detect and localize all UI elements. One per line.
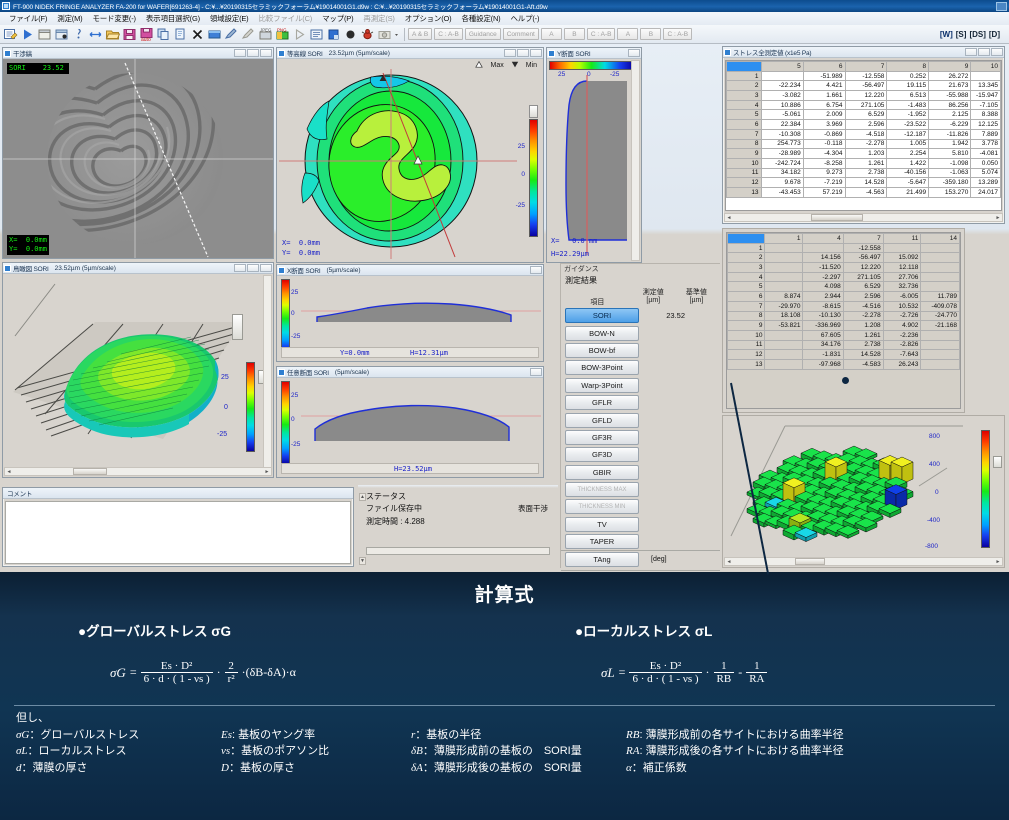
- table-row-header[interactable]: 6: [728, 292, 765, 302]
- table-cell[interactable]: 22.384: [761, 120, 803, 130]
- table-cell[interactable]: [921, 340, 960, 350]
- table-cell[interactable]: -5.647: [887, 178, 929, 188]
- table-cell[interactable]: -10.308: [761, 129, 803, 139]
- table-cell[interactable]: 3.778: [971, 139, 1001, 149]
- table-cell[interactable]: -55.988: [929, 91, 971, 101]
- table-cell[interactable]: [765, 272, 803, 282]
- toolbar-btn-comment[interactable]: Comment: [503, 28, 539, 40]
- delete-x-icon[interactable]: [190, 27, 205, 42]
- table-col-header[interactable]: 7: [843, 234, 883, 244]
- table-cell[interactable]: 2.125: [929, 110, 971, 120]
- guidance-item-gflr[interactable]: GFLR: [565, 395, 639, 410]
- table-row-header[interactable]: 10: [727, 158, 762, 168]
- guidance-item-gbir[interactable]: GBIR: [565, 465, 639, 480]
- table-cell[interactable]: [765, 340, 803, 350]
- table-row[interactable]: 13-97.968-4.58326.243: [728, 359, 960, 369]
- panel-stress-table-close[interactable]: [991, 48, 1003, 56]
- table-cell[interactable]: 34.176: [803, 340, 843, 350]
- table-cell[interactable]: [921, 350, 960, 360]
- mode-button-d[interactable]: [D]: [989, 30, 1000, 39]
- bird-view-vscrollbar[interactable]: [263, 275, 272, 476]
- png-export-icon[interactable]: PNG: [275, 27, 290, 42]
- table-cell[interactable]: -28.989: [761, 149, 803, 159]
- table-cell[interactable]: -336.969: [803, 321, 843, 331]
- y-section-vscrollbar[interactable]: [631, 60, 640, 261]
- table-cell[interactable]: 271.105: [843, 272, 883, 282]
- table-corner-header[interactable]: [728, 234, 765, 244]
- table-cell[interactable]: -1.831: [803, 350, 843, 360]
- table-cell[interactable]: -7.105: [971, 100, 1001, 110]
- guidance-item-sori[interactable]: SORI: [565, 308, 639, 323]
- table-cell[interactable]: -1.952: [887, 110, 929, 120]
- bird-view-plot[interactable]: 250-25: [3, 274, 255, 464]
- menu-item-measure[interactable]: 測定(M): [52, 13, 87, 24]
- table-row[interactable]: 9-28.989-4.3041.2032.2545.810-4.081: [727, 149, 1001, 159]
- table-row[interactable]: 8254.773-0.118-2.2781.0051.9423.778: [727, 139, 1001, 149]
- table-cell[interactable]: -6.229: [929, 120, 971, 130]
- table-row-header[interactable]: 3: [727, 91, 762, 101]
- table-cell[interactable]: 1.661: [803, 91, 845, 101]
- table-cell[interactable]: -242.724: [761, 158, 803, 168]
- table-cell[interactable]: -1.063: [929, 168, 971, 178]
- table-cell[interactable]: [921, 282, 960, 292]
- y-section-profile[interactable]: [549, 75, 633, 255]
- table-cell[interactable]: -2.726: [883, 311, 921, 321]
- table-cell[interactable]: -8.258: [803, 158, 845, 168]
- table-row[interactable]: 410.8866.754271.105-1.48386.256-7.105: [727, 100, 1001, 110]
- table-cell[interactable]: -51.989: [803, 71, 845, 81]
- table-cell[interactable]: 21.499: [887, 187, 929, 197]
- circle-icon[interactable]: [343, 27, 358, 42]
- table-cell[interactable]: 12.220: [845, 91, 887, 101]
- table-cell[interactable]: -11.520: [803, 263, 843, 273]
- table-row-header[interactable]: 2: [727, 81, 762, 91]
- table-cell[interactable]: 14.156: [803, 253, 843, 263]
- table-cell[interactable]: -12.558: [845, 71, 887, 81]
- stress-table-hscrollbar[interactable]: ◄ ►: [724, 213, 1003, 222]
- table-cell[interactable]: [971, 71, 1001, 81]
- table-row[interactable]: 1067.6051.261-2.236: [728, 330, 960, 340]
- panel-contour-maximize[interactable]: [517, 49, 529, 57]
- table-cell[interactable]: 1.422: [887, 158, 929, 168]
- table-cell[interactable]: 14.528: [843, 350, 883, 360]
- camera-icon[interactable]: [377, 27, 392, 42]
- menu-item-map[interactable]: マップ(P): [317, 13, 358, 24]
- mode-button-w[interactable]: [W]: [940, 30, 953, 39]
- menu-item-region[interactable]: 領域設定(E): [205, 13, 254, 24]
- table-col-header[interactable]: 8: [887, 62, 929, 72]
- play-gray-icon[interactable]: [292, 27, 307, 42]
- contour-cbar-scroll-up[interactable]: [529, 105, 538, 118]
- bird-view-hscroll-thumb[interactable]: [73, 468, 107, 475]
- table-cell[interactable]: -5.061: [761, 110, 803, 120]
- panel-stress-table-minimize[interactable]: [965, 48, 977, 56]
- play-icon[interactable]: [20, 27, 35, 42]
- table-cell[interactable]: 4.902: [883, 321, 921, 331]
- menu-item-help[interactable]: ヘルプ(-): [505, 13, 544, 24]
- table-col-header[interactable]: 5: [761, 62, 803, 72]
- table-row[interactable]: 129.678-7.21914.528-5.647-359.18013.289: [727, 178, 1001, 188]
- table-cell[interactable]: 9.273: [803, 168, 845, 178]
- table-cell[interactable]: 57.219: [803, 187, 845, 197]
- toolbar-dropdown-arrow-icon[interactable]: [394, 27, 399, 42]
- table-cell[interactable]: 254.773: [761, 139, 803, 149]
- table-cell[interactable]: -1.098: [929, 158, 971, 168]
- table-cell[interactable]: 3.969: [803, 120, 845, 130]
- save-icon[interactable]: [122, 27, 137, 42]
- x-section-profile[interactable]: [301, 279, 541, 345]
- panel-contour-minimize[interactable]: [504, 49, 516, 57]
- table-cell[interactable]: 6.529: [845, 110, 887, 120]
- panel-stress-table-maximize[interactable]: [978, 48, 990, 56]
- table-cell[interactable]: 10.886: [761, 100, 803, 110]
- table-cell[interactable]: -7.219: [803, 178, 845, 188]
- table-row-header[interactable]: 12: [728, 350, 765, 360]
- table-cell[interactable]: -4.583: [843, 359, 883, 369]
- table-cell[interactable]: 0.252: [887, 71, 929, 81]
- table-row[interactable]: 68.8742.9442.596-6.00511.789: [728, 292, 960, 302]
- panel-bird-view-close[interactable]: [260, 264, 272, 272]
- bird-view-hscrollbar[interactable]: ◄ ►: [4, 467, 272, 476]
- table-cell[interactable]: [803, 243, 843, 253]
- table-cell[interactable]: 2.596: [845, 120, 887, 130]
- brush-off-icon[interactable]: [241, 27, 256, 42]
- table-row-header[interactable]: 7: [727, 129, 762, 139]
- table-row-header[interactable]: 2: [728, 253, 765, 263]
- table-row[interactable]: 622.3843.9692.596-23.522-6.22912.125: [727, 120, 1001, 130]
- panel-icon[interactable]: [207, 27, 222, 42]
- table-cell[interactable]: 1.005: [887, 139, 929, 149]
- table-cell[interactable]: 5.810: [929, 149, 971, 159]
- minimize-button[interactable]: [996, 2, 1007, 11]
- table-row[interactable]: 1-12.558: [728, 243, 960, 253]
- table-cell[interactable]: 26.243: [883, 359, 921, 369]
- table-row-header[interactable]: 4: [728, 272, 765, 282]
- table-cell[interactable]: -22.234: [761, 81, 803, 91]
- table-cell[interactable]: -4.516: [843, 301, 883, 311]
- table-cell[interactable]: -409.078: [921, 301, 960, 311]
- table-cell[interactable]: -4.563: [845, 187, 887, 197]
- toolbar-btn-a-1[interactable]: A: [541, 28, 562, 40]
- table-cell[interactable]: 153.270: [929, 187, 971, 197]
- panel-fringe-close[interactable]: [260, 49, 272, 57]
- table-cell[interactable]: -10.130: [803, 311, 843, 321]
- guidance-item-gfld[interactable]: GFLD: [565, 413, 639, 428]
- table-row[interactable]: 54.0986.52932.736: [728, 282, 960, 292]
- contour-plot[interactable]: [279, 69, 517, 259]
- table-cell[interactable]: -12.187: [887, 129, 929, 139]
- table-cell[interactable]: 2.738: [845, 168, 887, 178]
- menu-item-mode[interactable]: モード変更(-): [87, 13, 140, 24]
- table-row-header[interactable]: 11: [728, 340, 765, 350]
- table-cell[interactable]: 11.789: [921, 292, 960, 302]
- table-row[interactable]: 818.108-10.130-2.278-2.726-24.770: [728, 311, 960, 321]
- paste-icon[interactable]: [173, 27, 188, 42]
- table-cell[interactable]: 2.596: [843, 292, 883, 302]
- save-disk-icon[interactable]: [54, 27, 69, 42]
- toolbar-btn-a-and-b[interactable]: A & B: [408, 28, 432, 40]
- table-row-header[interactable]: 8: [728, 311, 765, 321]
- table-cell[interactable]: -6.005: [883, 292, 921, 302]
- bird-view-rotate-control[interactable]: [232, 314, 243, 340]
- table-cell[interactable]: 271.105: [845, 100, 887, 110]
- table-row-header[interactable]: 13: [727, 187, 762, 197]
- table-cell[interactable]: 34.182: [761, 168, 803, 178]
- table-row[interactable]: 3-3.0821.66112.2206.513-55.988-15.947: [727, 91, 1001, 101]
- table-row[interactable]: 1-51.989-12.5580.25226.272: [727, 71, 1001, 81]
- guidance-item-bow-3point[interactable]: BOW-3Point: [565, 360, 639, 375]
- menu-item-options[interactable]: オプション(O): [400, 13, 457, 24]
- table-cell[interactable]: 26.272: [929, 71, 971, 81]
- table-cell[interactable]: 24.017: [971, 187, 1001, 197]
- table-cell[interactable]: 6.754: [803, 100, 845, 110]
- table-cell[interactable]: -2.278: [843, 311, 883, 321]
- table-row-header[interactable]: 10: [728, 330, 765, 340]
- table-cell[interactable]: [765, 330, 803, 340]
- list-icon[interactable]: [309, 27, 324, 42]
- panel-contour-close[interactable]: [530, 49, 542, 57]
- table-cell[interactable]: 9.678: [761, 178, 803, 188]
- table-cell[interactable]: 19.115: [887, 81, 929, 91]
- panel-arbitrary-section-close[interactable]: [530, 368, 542, 376]
- guidance-item-gf3r[interactable]: GF3R: [565, 430, 639, 445]
- table-cell[interactable]: -56.497: [843, 253, 883, 263]
- toolbar-btn-c-1[interactable]: C : A-B: [587, 28, 616, 40]
- panel-fringe-minimize[interactable]: [234, 49, 246, 57]
- table-cell[interactable]: 8.388: [971, 110, 1001, 120]
- arrows-horizontal-icon[interactable]: [88, 27, 103, 42]
- table-cell[interactable]: -8.615: [803, 301, 843, 311]
- table-cell[interactable]: 8.874: [765, 292, 803, 302]
- guidance-item-tang[interactable]: TAng: [565, 552, 639, 567]
- table-cell[interactable]: -24.770: [921, 311, 960, 321]
- table-cell[interactable]: [921, 263, 960, 273]
- table-cell[interactable]: -11.826: [929, 129, 971, 139]
- table-cell[interactable]: [765, 253, 803, 263]
- table-row-header[interactable]: 9: [728, 321, 765, 331]
- table-row-header[interactable]: 13: [728, 359, 765, 369]
- guidance-item-taper[interactable]: TAPER: [565, 534, 639, 549]
- table-row-header[interactable]: 6: [727, 120, 762, 130]
- table-row[interactable]: 7-10.308-0.869-4.518-12.187-11.8267.889: [727, 129, 1001, 139]
- table-cell[interactable]: 1.203: [845, 149, 887, 159]
- table-cell[interactable]: -97.968: [803, 359, 843, 369]
- table-cell[interactable]: 12.118: [883, 263, 921, 273]
- table-col-header[interactable]: 7: [845, 62, 887, 72]
- stress-hscroll-thumb[interactable]: [811, 214, 863, 221]
- table-cell[interactable]: 0.050: [971, 158, 1001, 168]
- table-cell[interactable]: 12.125: [971, 120, 1001, 130]
- table-cell[interactable]: 1.261: [845, 158, 887, 168]
- table-cell[interactable]: 15.092: [883, 253, 921, 263]
- comment-input[interactable]: [5, 501, 351, 564]
- guidance-item-tv[interactable]: TV: [565, 517, 639, 532]
- bird-view-hscroll-left[interactable]: ◄: [5, 469, 13, 475]
- table-cell[interactable]: -40.156: [887, 168, 929, 178]
- menu-item-settings[interactable]: 各種設定(N): [456, 13, 505, 24]
- table-cell[interactable]: -2.278: [845, 139, 887, 149]
- table-row-header[interactable]: 4: [727, 100, 762, 110]
- table-cell[interactable]: 21.673: [929, 81, 971, 91]
- table-cell[interactable]: 27.706: [883, 272, 921, 282]
- table-cell[interactable]: 14.528: [845, 178, 887, 188]
- open-folder-icon[interactable]: [105, 27, 120, 42]
- table-cell[interactable]: [765, 350, 803, 360]
- table-cell[interactable]: 1.942: [929, 139, 971, 149]
- table-cell[interactable]: [765, 263, 803, 273]
- guidance-item-warp-3point[interactable]: Warp-3Point: [565, 378, 639, 393]
- table-row-header[interactable]: 5: [728, 282, 765, 292]
- table-cell[interactable]: [765, 243, 803, 253]
- table-col-header[interactable]: 10: [971, 62, 1001, 72]
- table-cell[interactable]: -21.168: [921, 321, 960, 331]
- table-cell[interactable]: -2.236: [883, 330, 921, 340]
- stress-bars-zoom-control[interactable]: [993, 456, 1002, 468]
- table-cell[interactable]: [921, 243, 960, 253]
- blue-square-icon[interactable]: [326, 27, 341, 42]
- table-cell[interactable]: -53.821: [765, 321, 803, 331]
- toolbar-btn-a-2[interactable]: A: [617, 28, 638, 40]
- table-row[interactable]: 9-53.821-336.9691.2084.902-21.168: [728, 321, 960, 331]
- stress-hscroll-right[interactable]: ►: [994, 215, 1002, 221]
- table-col-header[interactable]: 11: [883, 234, 921, 244]
- table-row-header[interactable]: 8: [727, 139, 762, 149]
- stress-bars-hscroll-thumb[interactable]: [795, 558, 825, 565]
- table-cell[interactable]: -359.180: [929, 178, 971, 188]
- menu-item-remeasure[interactable]: 再測定(S): [358, 13, 399, 24]
- table-cell[interactable]: 13.345: [971, 81, 1001, 91]
- table-cell[interactable]: -7.643: [883, 350, 921, 360]
- fringe-image[interactable]: SORI 23.52 X= 0.0mm Y= 0.0mm: [3, 59, 273, 258]
- table-row-header[interactable]: 11: [727, 168, 762, 178]
- table-row[interactable]: 10-242.724-8.2581.2611.422-1.0980.050: [727, 158, 1001, 168]
- table-cell[interactable]: -15.947: [971, 91, 1001, 101]
- stress-hscroll-left[interactable]: ◄: [725, 215, 733, 221]
- guidance-item-bow-bf[interactable]: BOW-bf: [565, 343, 639, 358]
- arbitrary-section-profile[interactable]: [301, 381, 541, 457]
- mode-button-s[interactable]: [S]: [956, 30, 967, 39]
- panel-x-section-close[interactable]: [530, 266, 542, 274]
- table-row[interactable]: 3-11.52012.22012.118: [728, 263, 960, 273]
- table-cell[interactable]: 1.208: [843, 321, 883, 331]
- table-cell[interactable]: 13.289: [971, 178, 1001, 188]
- table-row[interactable]: 4-2.297271.10527.706: [728, 272, 960, 282]
- table-row-header[interactable]: 3: [728, 263, 765, 273]
- table-cell[interactable]: -12.558: [843, 243, 883, 253]
- table-cell[interactable]: 4.421: [803, 81, 845, 91]
- status-scroll-down[interactable]: ▼: [359, 557, 366, 565]
- table-cell[interactable]: 32.736: [883, 282, 921, 292]
- menu-item-file[interactable]: ファイル(F): [4, 13, 52, 24]
- stress-bars-hscroll-right[interactable]: ►: [994, 559, 1002, 565]
- table-row-header[interactable]: 7: [728, 301, 765, 311]
- table-cell[interactable]: 6.529: [843, 282, 883, 292]
- jpeg-export-icon[interactable]: JPEG: [258, 27, 273, 42]
- table-row[interactable]: 7-29.970-8.615-4.51610.532-409.078: [728, 301, 960, 311]
- table-cell[interactable]: 2.009: [803, 110, 845, 120]
- table-cell[interactable]: -43.453: [761, 187, 803, 197]
- bug-icon[interactable]: [360, 27, 375, 42]
- table-col-header[interactable]: 6: [803, 62, 845, 72]
- table-cell[interactable]: 2.944: [803, 292, 843, 302]
- table-cell[interactable]: 2.738: [843, 340, 883, 350]
- stress-bars-hscroll-left[interactable]: ◄: [725, 559, 733, 565]
- measure-probe-icon[interactable]: [71, 27, 86, 42]
- table-cell[interactable]: [921, 359, 960, 369]
- site-table[interactable]: 14711141-12.558214.156-56.49715.0923-11.…: [727, 233, 960, 370]
- table-cell[interactable]: [883, 243, 921, 253]
- toolbar-btn-c-2[interactable]: C : A-B: [663, 28, 692, 40]
- table-cell[interactable]: -4.518: [845, 129, 887, 139]
- table-col-header[interactable]: 1: [765, 234, 803, 244]
- edit-note-icon[interactable]: [3, 27, 18, 42]
- panel-bird-view-minimize[interactable]: [234, 264, 246, 272]
- table-col-header[interactable]: 4: [803, 234, 843, 244]
- table-cell[interactable]: [921, 253, 960, 263]
- table-cell[interactable]: -23.522: [887, 120, 929, 130]
- table-cell[interactable]: -2.297: [803, 272, 843, 282]
- table-cell[interactable]: -0.118: [803, 139, 845, 149]
- toolbar-btn-guidance[interactable]: Guidance: [465, 28, 501, 40]
- table-row[interactable]: 5-5.0612.0096.529-1.9522.1258.388: [727, 110, 1001, 120]
- copy-icon[interactable]: [156, 27, 171, 42]
- panel-y-section-close[interactable]: [628, 49, 640, 57]
- table-corner-header[interactable]: [727, 62, 762, 72]
- table-row[interactable]: 13-43.45357.219-4.56321.499153.27024.017: [727, 187, 1001, 197]
- table-col-header[interactable]: 9: [929, 62, 971, 72]
- table-row[interactable]: 2-22.2344.421-56.49719.11521.67313.345: [727, 81, 1001, 91]
- table-cell[interactable]: -3.082: [761, 91, 803, 101]
- status-scroll-up[interactable]: ▲: [359, 493, 366, 501]
- table-row-header[interactable]: 9: [727, 149, 762, 159]
- guidance-item-bow-n[interactable]: BOW-N: [565, 326, 639, 341]
- save-auto-icon[interactable]: auto: [139, 27, 154, 42]
- table-cell[interactable]: 5.074: [971, 168, 1001, 178]
- table-row[interactable]: 1134.1829.2732.738-40.156-1.0635.074: [727, 168, 1001, 178]
- mode-button-ds[interactable]: [DS]: [969, 30, 985, 39]
- table-cell[interactable]: -4.081: [971, 149, 1001, 159]
- table-cell[interactable]: 6.513: [887, 91, 929, 101]
- table-col-header[interactable]: 14: [921, 234, 960, 244]
- table-row-header[interactable]: 1: [727, 71, 762, 81]
- bird-view-hscroll-right[interactable]: ►: [263, 469, 271, 475]
- table-cell[interactable]: [765, 359, 803, 369]
- toolbar-btn-b-1[interactable]: B: [564, 28, 585, 40]
- window-icon[interactable]: [37, 27, 52, 42]
- table-cell[interactable]: 2.254: [887, 149, 929, 159]
- table-cell[interactable]: 4.098: [803, 282, 843, 292]
- table-row-header[interactable]: 12: [727, 178, 762, 188]
- table-cell[interactable]: -4.304: [803, 149, 845, 159]
- toolbar-btn-c-a-minus-b[interactable]: C : A-B: [434, 28, 463, 40]
- table-cell[interactable]: -56.497: [845, 81, 887, 91]
- table-row[interactable]: 1134.1762.738-2.826: [728, 340, 960, 350]
- guidance-item-gf3d[interactable]: GF3D: [565, 447, 639, 462]
- table-cell[interactable]: 10.532: [883, 301, 921, 311]
- stress-bars-3d-plot[interactable]: 800400 0-400-800: [723, 418, 983, 556]
- table-cell[interactable]: [765, 282, 803, 292]
- table-cell[interactable]: -1.483: [887, 100, 929, 110]
- table-cell[interactable]: [921, 272, 960, 282]
- table-cell[interactable]: -29.970: [765, 301, 803, 311]
- table-cell[interactable]: [921, 330, 960, 340]
- table-cell[interactable]: -0.869: [803, 129, 845, 139]
- toolbar-btn-b-2[interactable]: B: [640, 28, 661, 40]
- table-cell[interactable]: 7.889: [971, 129, 1001, 139]
- table-cell[interactable]: 18.108: [765, 311, 803, 321]
- stress-table[interactable]: 56789101-51.989-12.5580.25226.2722-22.23…: [726, 61, 1001, 198]
- table-row-header[interactable]: 1: [728, 243, 765, 253]
